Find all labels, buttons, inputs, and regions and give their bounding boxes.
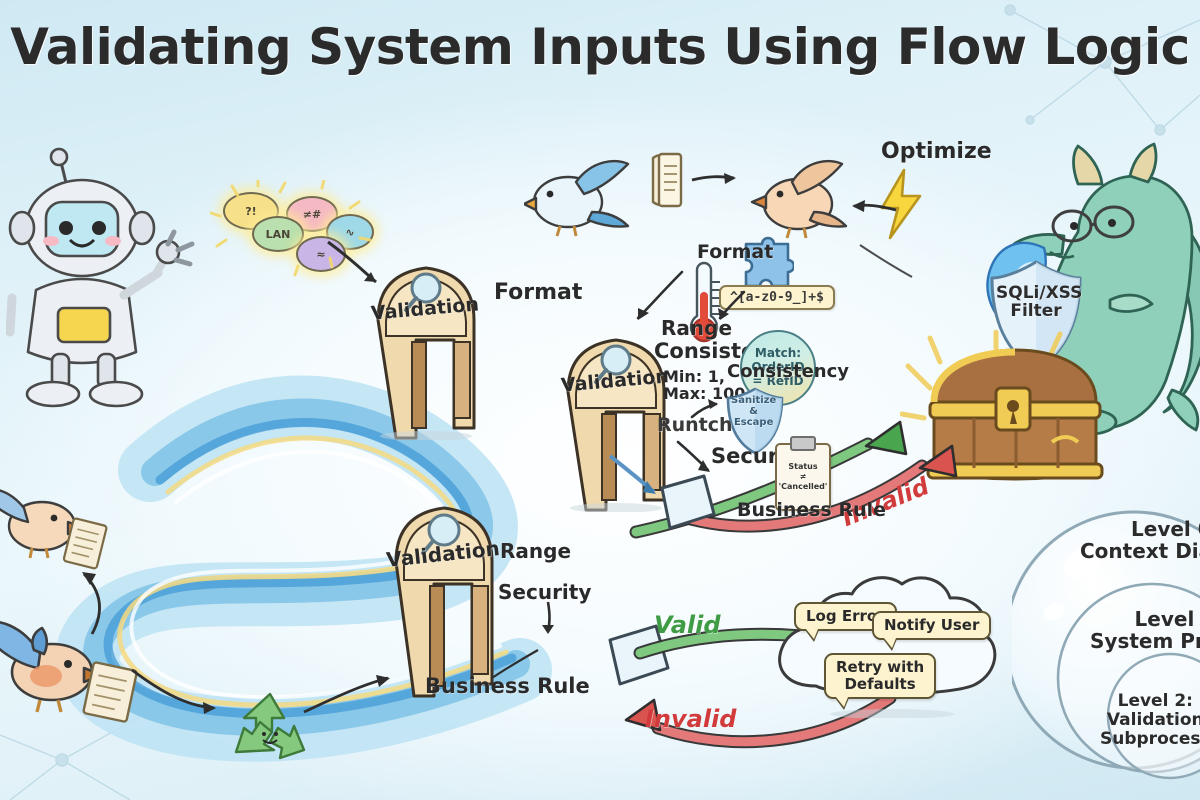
level-0-label: Level 0: Context Diagram	[1080, 518, 1200, 563]
bird-loop-arrow	[58, 560, 118, 638]
rule-label-format: Format	[494, 281, 582, 305]
scroll-icon	[645, 148, 689, 212]
recycle-to-gate-arrow	[300, 660, 410, 730]
rule-label-range-2: Range	[500, 541, 571, 563]
rule-label-business-rule: Business Rule	[737, 500, 886, 521]
illustration-canvas: Validating System Inputs Using Flow Logi…	[0, 0, 1200, 800]
error-action-retry: Retry with Defaults	[824, 653, 936, 699]
robot-icon	[6, 140, 216, 410]
flow-label-invalid: Invalid	[645, 707, 737, 733]
flow-label-valid: Valid	[654, 613, 721, 639]
clipboard-clip	[790, 436, 816, 451]
validation-gate-1: Validation	[350, 250, 500, 440]
clipboard-text: Status ≠ 'Cancelled'	[779, 462, 828, 492]
blue-bird-icon	[524, 150, 634, 240]
security-pointer-arrows	[490, 600, 570, 690]
level-1-label: Level 1: System Process	[1090, 608, 1200, 653]
shield-label: SQLi/XSS Filter	[996, 284, 1076, 321]
page-title: Validating System Inputs Using Flow Logi…	[0, 18, 1200, 76]
optimize-tail-line	[858, 205, 938, 285]
level-2-label: Level 2: Validation Subprocess	[1100, 692, 1200, 749]
rule-label-format-2: Format	[697, 242, 773, 263]
error-action-notify: Notify User	[872, 611, 991, 640]
stream-to-decision-arrow	[608, 452, 678, 506]
bird-to-recycle-arrow	[130, 660, 240, 720]
recycle-icon	[230, 690, 310, 762]
